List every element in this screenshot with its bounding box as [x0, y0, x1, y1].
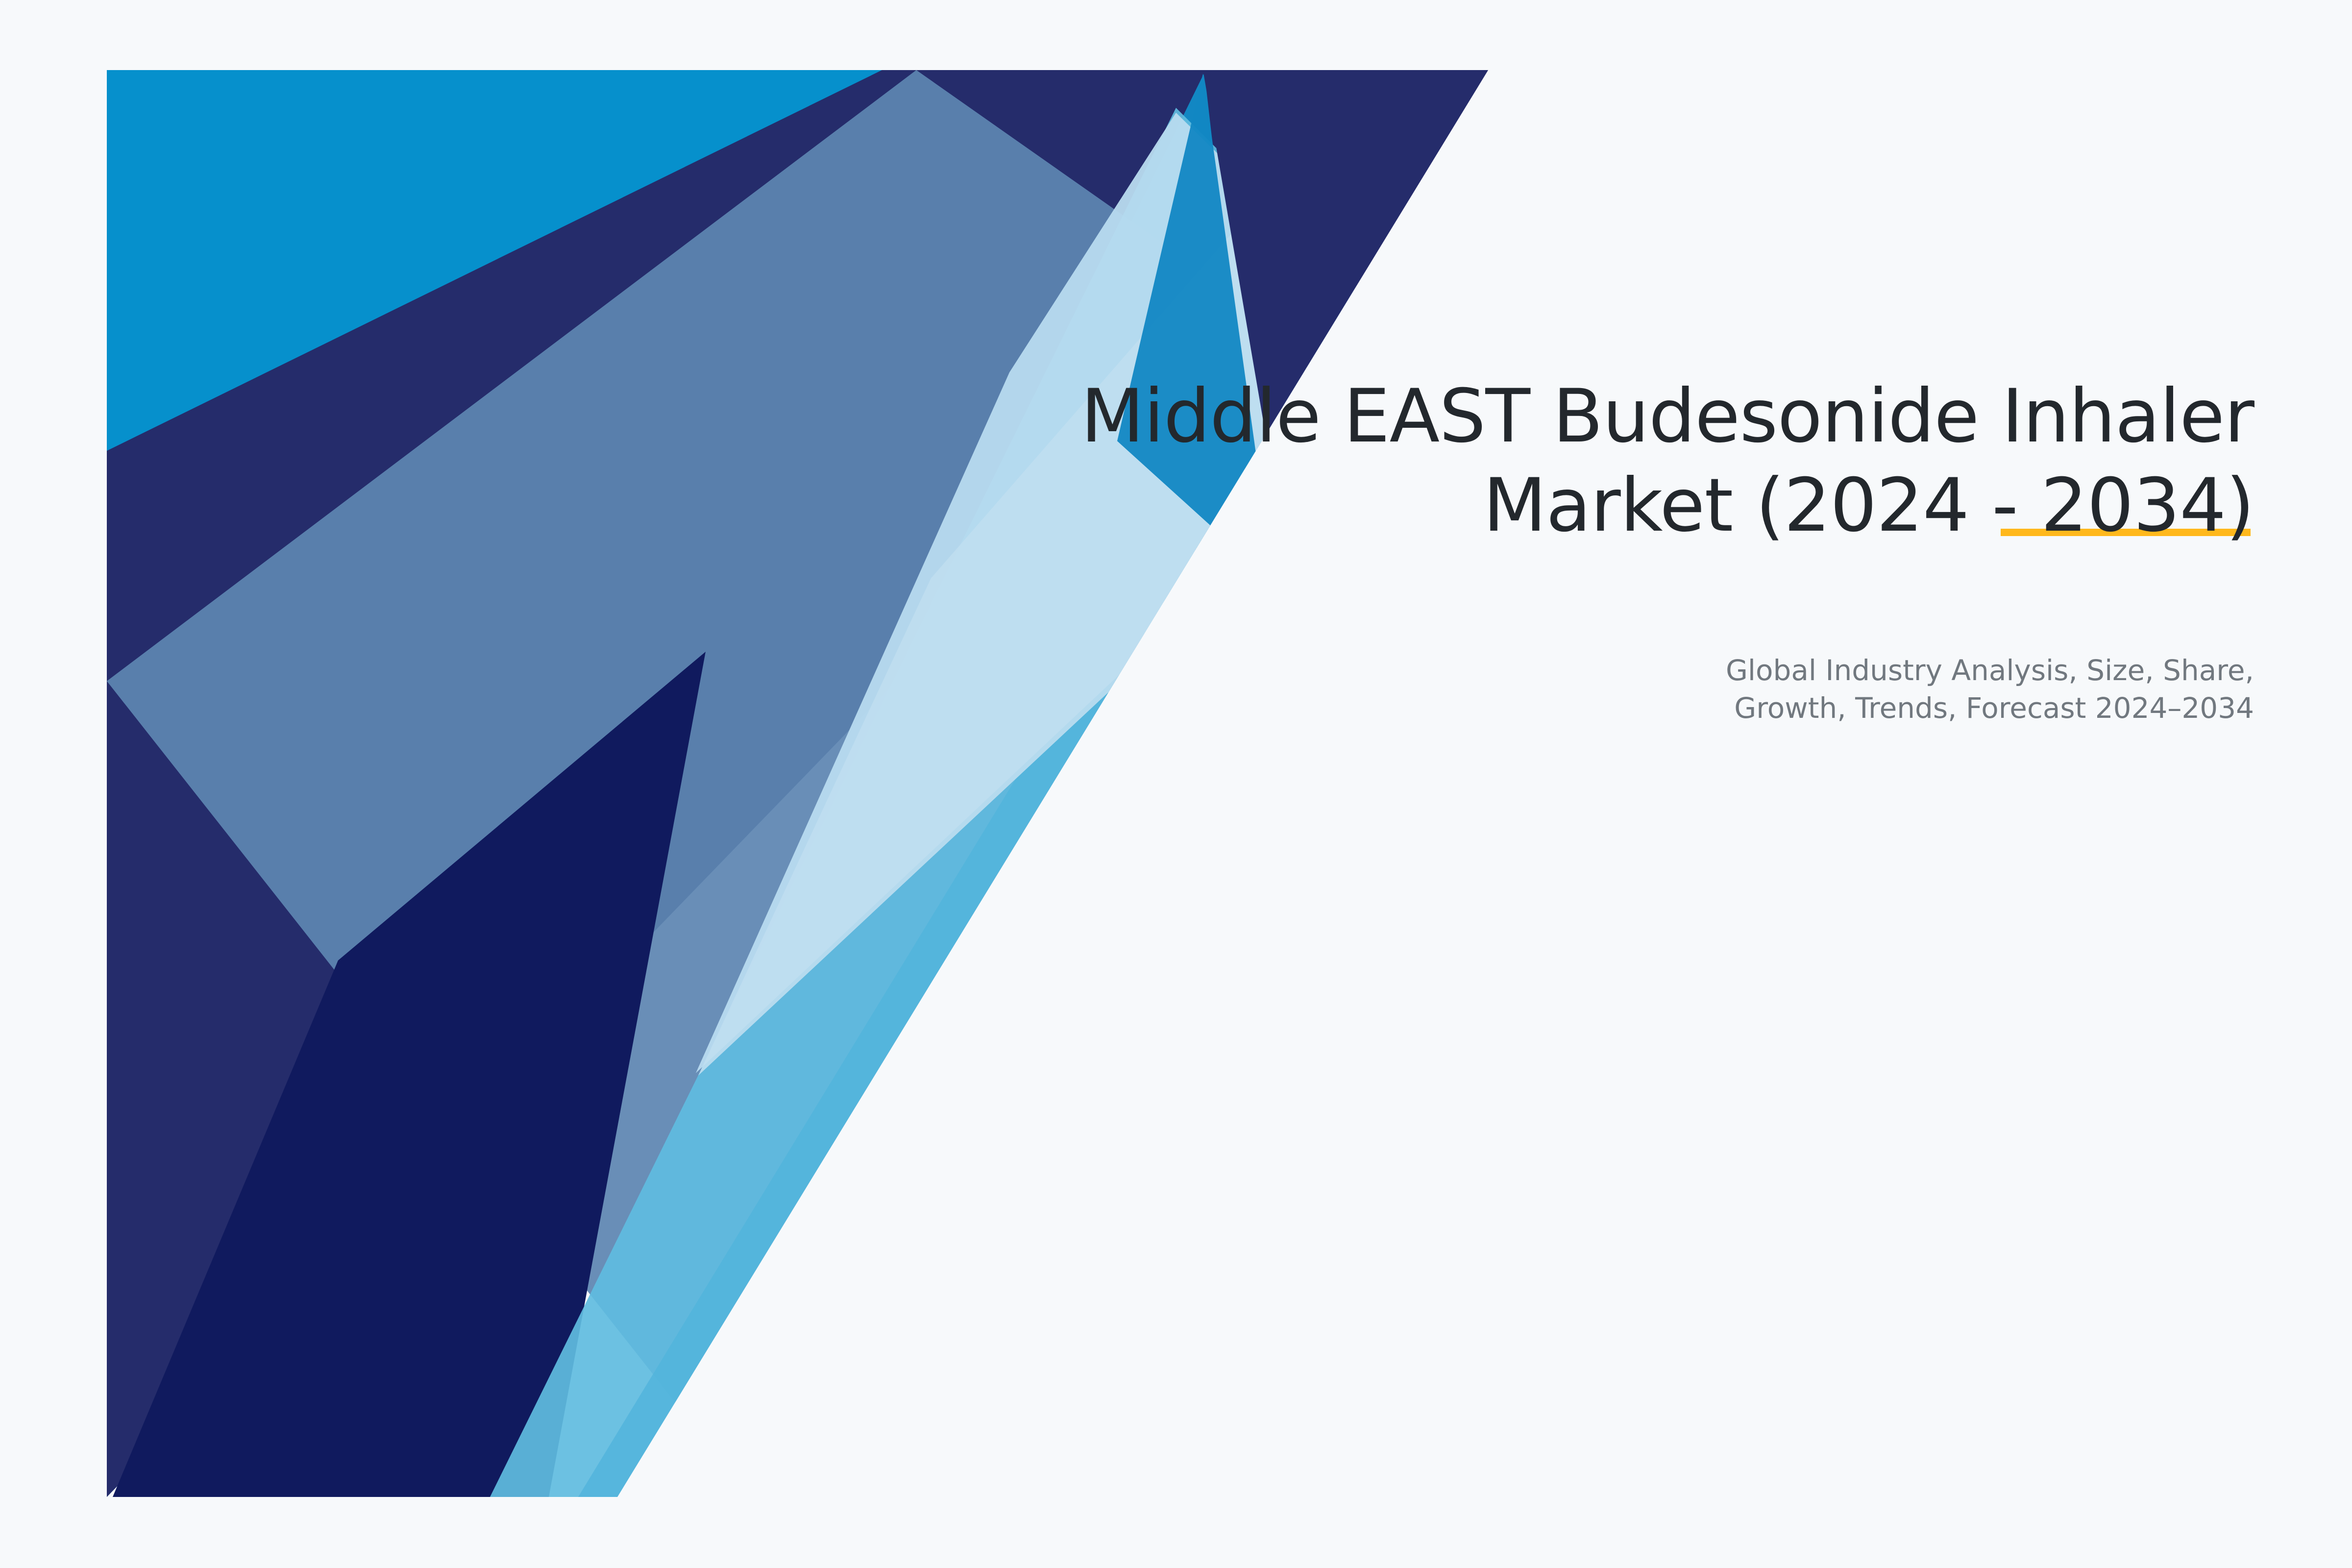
page-subtitle: Global Industry Analysis, Size, Share,Gr…	[1004, 652, 2254, 727]
page-title-line-1: Middle EAST Budesonide Inhaler	[1004, 372, 2254, 462]
page-subtitle-line-2: Growth, Trends, Forecast 2024–2034	[1734, 691, 2254, 725]
page-title: Middle EAST Budesonide InhalerMarket (20…	[1004, 372, 2254, 550]
report-cover-page: Middle EAST Budesonide InhalerMarket (20…	[0, 0, 2352, 1568]
cover-text-block: Middle EAST Budesonide InhalerMarket (20…	[1004, 372, 2254, 550]
abstract-geometric-artwork	[0, 0, 2352, 1568]
page-subtitle-line-1: Global Industry Analysis, Size, Share,	[1726, 654, 2254, 687]
page-title-line-2: Market (2024 - 2034)	[1004, 462, 2254, 551]
